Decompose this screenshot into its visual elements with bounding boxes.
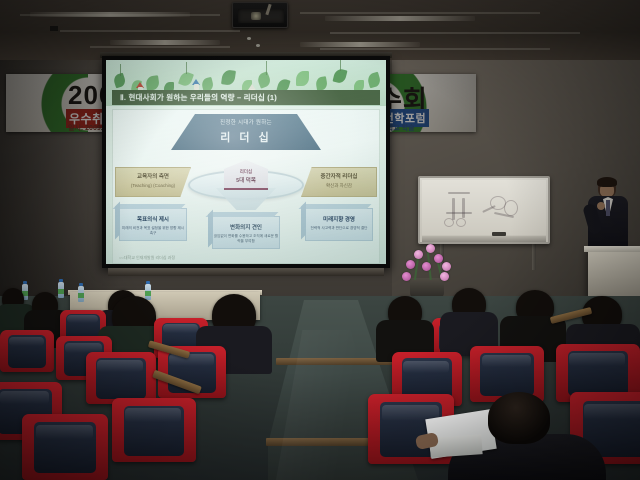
banner-date: 일시: 2009.: [68, 123, 103, 132]
slide-diagram: 진정한 시대가 원하는 리 더 십 교육자의 측면 (Teaching) (Co…: [112, 109, 380, 264]
bottom-box-2-heading: 변화의지 견인: [213, 223, 279, 231]
orchid-plant: [396, 240, 458, 298]
bottom-box-3-heading: 미래지향 경영: [306, 215, 372, 223]
whiteboard: [418, 176, 550, 244]
diagram-side-box-right: 중간자적 리더십 확신과 자신감: [301, 167, 377, 197]
side-box-right-sub: 확신과 자신감: [302, 183, 376, 189]
screen-bottom-bar: [108, 268, 384, 276]
bottom-box-2-detail: 끊임없이 변화를 수용하고 조직에 새로운 활력을 부여함: [213, 234, 279, 245]
side-box-right-heading: 중간자적 리더십: [302, 172, 376, 180]
lead-banner-kicker: 진정한 시대가 원하는: [171, 118, 321, 126]
water-bottle: [58, 282, 64, 298]
auditorium-seat: [112, 398, 196, 462]
slide-footer: ○○대학교 인재개발원 리더십 과정: [119, 255, 175, 261]
house-icon: [192, 79, 201, 90]
ceiling-projector: [232, 2, 288, 28]
whiteboard-eraser: [492, 232, 506, 236]
core-line-1: 리더십: [224, 169, 268, 175]
water-bottle: [78, 286, 84, 302]
diagram-side-box-left: 교육자의 측면 (Teaching) (Coaching): [115, 167, 191, 197]
diagram-core: 리더십 5대 덕목: [224, 160, 268, 190]
ceiling-light: [300, 42, 420, 47]
projection-screen: Ⅱ. 현대사회가 원하는 우리들의 역량 – 리더십 (1) 진정한 시대가 원…: [102, 56, 390, 268]
diagram-lead-banner: 진정한 시대가 원하는 리 더 십: [171, 114, 321, 150]
auditorium-seat: [0, 330, 54, 372]
ceiling-light: [110, 40, 220, 45]
diagram-bottom-box-1: 목표의식 제시 미래의 비전과 목표 설정을 위한 방향 제시 촉구: [119, 208, 187, 241]
lecture-hall-photo: 200 수회 우수취업 공전학포럼 일시: 2009. ○○대학교 학술: [0, 0, 640, 480]
ceiling-light: [325, 16, 475, 21]
bottom-box-3-detail: 전략적 사고력과 판단으로 경영적 결단: [306, 226, 372, 231]
auditorium-seat: [86, 352, 156, 404]
attendee-head: [488, 392, 550, 444]
diagram-bottom-box-2: 변화의지 견인 끊임없이 변화를 수용하고 조직에 새로운 활력을 부여함: [212, 216, 280, 249]
presentation-slide: Ⅱ. 현대사회가 원하는 우리들의 역량 – 리더십 (1) 진정한 시대가 원…: [106, 60, 386, 264]
lead-banner-headline: 리 더 십: [171, 129, 321, 145]
side-box-left-sub: (Teaching) (Coaching): [116, 183, 190, 188]
bottom-box-1-detail: 미래의 비전과 목표 설정을 위한 방향 제시 촉구: [120, 226, 186, 237]
slide-header-artwork: Ⅱ. 현대사회가 원하는 우리들의 역량 – 리더십 (1): [106, 60, 386, 106]
diagram-bottom-box-3: 미래지향 경영 전략적 사고력과 판단으로 경영적 결단: [305, 208, 373, 241]
presenter-tie: [606, 200, 610, 216]
ceiling-light: [30, 12, 190, 17]
core-line-2: 5대 덕목: [224, 176, 268, 184]
water-bottle: [145, 284, 151, 300]
attendee-foreground-reader: [452, 392, 602, 480]
slide-title: Ⅱ. 현대사회가 원하는 우리들의 역량 – 리더십 (1): [112, 90, 380, 105]
auditorium-seat: [22, 414, 108, 480]
side-box-left-heading: 교육자의 측면: [116, 172, 190, 180]
projector-lens-icon: [251, 12, 261, 20]
bottom-box-1-heading: 목표의식 제시: [120, 215, 186, 223]
flower-pot: [410, 278, 444, 298]
